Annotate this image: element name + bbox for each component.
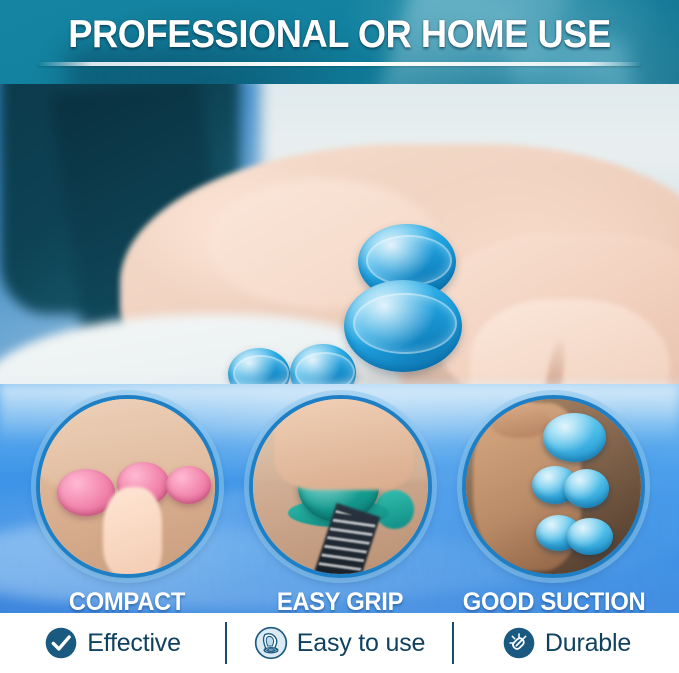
product-infographic: PROFESSIONAL OR HOME USE	[0, 0, 679, 673]
blue-cup	[543, 413, 606, 462]
check-circle-icon	[44, 626, 78, 660]
footer-bar: Effective Easy to use Durable	[0, 613, 679, 673]
feature-easy-to-use: Easy to use	[227, 626, 452, 660]
hero-photo	[0, 84, 679, 414]
photo-fingers	[274, 395, 414, 490]
feature-label: Effective	[87, 629, 181, 658]
pink-cup	[166, 466, 212, 505]
header-banner: PROFESSIONAL OR HOME USE	[0, 0, 679, 84]
callout-compact: COMPACT	[32, 395, 222, 625]
callout-image-circle	[249, 395, 432, 578]
feature-label: Durable	[545, 629, 631, 658]
photo-hand-gripping-cup	[253, 399, 428, 574]
photo-cups-on-foot	[466, 399, 641, 574]
cup-rim	[366, 235, 452, 286]
blue-cup	[564, 469, 610, 508]
unbreakable-icon	[502, 626, 536, 660]
photo-pink-cups-on-back	[40, 399, 215, 574]
cup-rim	[353, 293, 456, 354]
callout-easy-grip: EASY GRIP	[245, 395, 435, 625]
photo-hand	[103, 487, 163, 578]
blue-cup	[567, 518, 613, 555]
header-divider-rule	[38, 62, 641, 66]
cupping-cup	[344, 280, 462, 372]
feature-label: Easy to use	[297, 629, 425, 658]
hand-holding-cup-icon	[254, 626, 288, 660]
callout-good-suction: GOOD SUCTION	[458, 395, 648, 625]
callout-image-circle	[462, 395, 645, 578]
callout-image-circle	[36, 395, 219, 578]
feature-effective: Effective	[0, 626, 225, 660]
page-title: PROFESSIONAL OR HOME USE	[24, 13, 655, 57]
feature-durable: Durable	[454, 626, 679, 660]
photo-toes	[490, 403, 550, 438]
